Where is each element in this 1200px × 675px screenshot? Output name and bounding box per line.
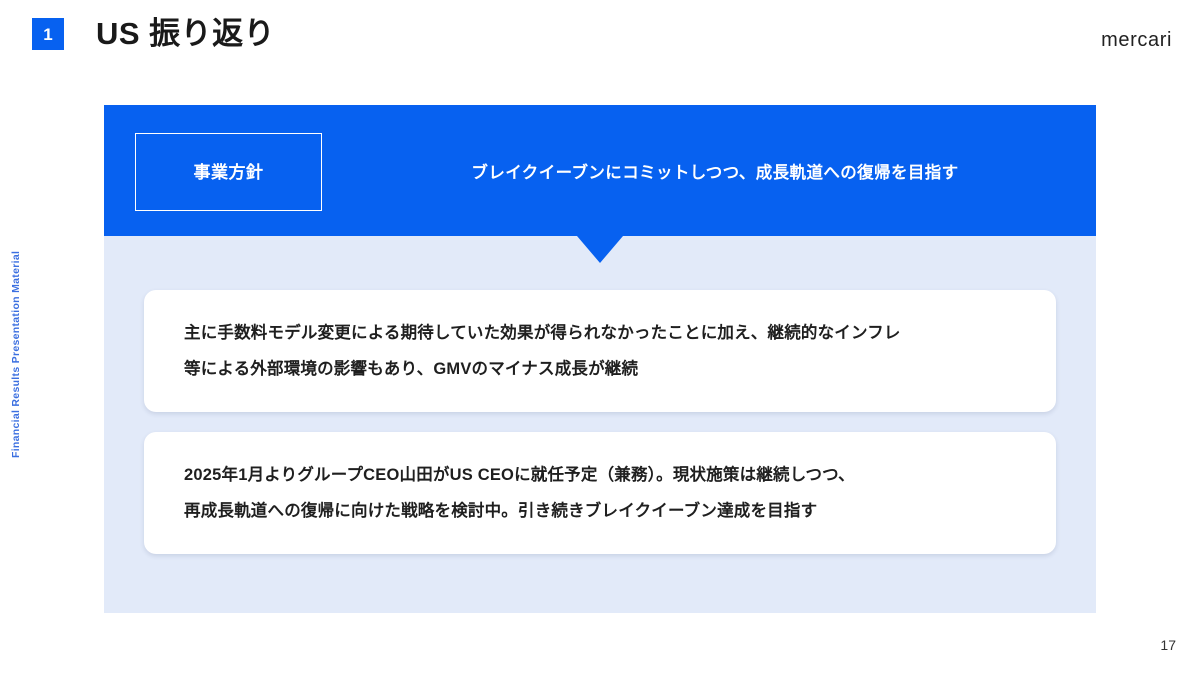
business-policy-statement: ブレイクイーブンにコミットしつつ、成長軌道への復帰を目指す	[354, 105, 1096, 236]
business-policy-band: 事業方針 ブレイクイーブンにコミットしつつ、成長軌道への復帰を目指す	[104, 105, 1096, 236]
summary-card-ceo-line-2: 再成長軌道への復帰に向けた戦略を検討中。引き続きブレイクイーブン達成を目指す	[184, 493, 1016, 529]
document-type-side-label: Financial Results Presentation Material	[10, 228, 32, 458]
business-policy-label: 事業方針	[194, 164, 264, 181]
triangle-down-icon	[577, 236, 623, 263]
mercari-logo: mercari	[1101, 29, 1172, 51]
section-number-badge: 1	[32, 18, 64, 50]
band-pointer-arrow	[104, 236, 1096, 264]
page-title: US 振り返り	[96, 12, 275, 56]
summary-card-gmv-line-1: 主に手数料モデル変更による期待していた効果が得られなかったことに加え、継続的なイ…	[184, 315, 1016, 351]
business-policy-label-box: 事業方針	[135, 133, 322, 211]
summary-card-gmv-line-2: 等による外部環境の影響もあり、GMVのマイナス成長が継続	[184, 351, 1016, 387]
summary-card-ceo: 2025年1月よりグループCEO山田がUS CEOに就任予定（兼務）。現状施策は…	[144, 432, 1056, 554]
summary-card-ceo-line-1: 2025年1月よりグループCEO山田がUS CEOに就任予定（兼務）。現状施策は…	[184, 457, 1016, 493]
content-panel: 事業方針 ブレイクイーブンにコミットしつつ、成長軌道への復帰を目指す 主に手数料…	[104, 105, 1096, 613]
page-number: 17	[1160, 637, 1176, 653]
slide-header: 1 US 振り返り mercari	[0, 0, 1200, 96]
summary-card-gmv: 主に手数料モデル変更による期待していた効果が得られなかったことに加え、継続的なイ…	[144, 290, 1056, 412]
